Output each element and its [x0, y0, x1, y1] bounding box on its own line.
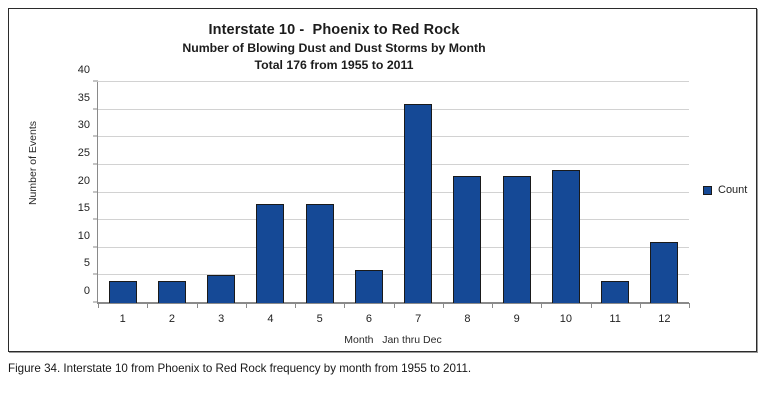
x-tick-mark: [246, 303, 247, 308]
plot-area: 0510152025303540 123456789101112: [97, 82, 689, 304]
x-tick-label-3: 3: [218, 313, 224, 325]
x-tick-mark: [197, 303, 198, 308]
chart-legend: Count: [703, 184, 747, 196]
bar-month-11: [601, 281, 629, 303]
x-tick-mark: [344, 303, 345, 308]
legend-swatch-count-icon: [703, 186, 712, 195]
bar-slot: [492, 82, 541, 303]
x-tick-mark: [295, 303, 296, 308]
y-tick-label: 10: [78, 230, 90, 242]
bar-month-12: [650, 242, 678, 303]
bar-month-5: [306, 204, 334, 303]
x-tick-label-2: 2: [169, 313, 175, 325]
chart-frame: Interstate 10 - Phoenix to Red Rock Numb…: [8, 8, 757, 352]
x-tick-label-7: 7: [415, 313, 421, 325]
bar-month-10: [552, 170, 580, 303]
figure-page: Interstate 10 - Phoenix to Red Rock Numb…: [0, 0, 770, 400]
bar-month-2: [158, 281, 186, 303]
x-axis-title: Month Jan thru Dec: [97, 334, 689, 346]
y-tick-label: 5: [84, 257, 90, 269]
x-tick-mark: [591, 303, 592, 308]
x-tick-mark: [443, 303, 444, 308]
x-tick-mark: [98, 303, 99, 308]
x-tick-label-1: 1: [120, 313, 126, 325]
bar-slot: [147, 82, 196, 303]
bar-slot: [197, 82, 246, 303]
x-tick-mark: [541, 303, 542, 308]
x-tick-label-12: 12: [658, 313, 670, 325]
bar-month-1: [109, 281, 137, 303]
legend-label-count: Count: [718, 184, 747, 196]
x-tick-label-11: 11: [609, 313, 620, 325]
bar-slot: [295, 82, 344, 303]
bar-slot: [640, 82, 689, 303]
x-tick-mark: [689, 303, 690, 308]
y-tick-label: 25: [78, 147, 90, 159]
x-tick-label-9: 9: [514, 313, 520, 325]
bar-month-9: [503, 176, 531, 303]
bar-month-3: [207, 275, 235, 303]
x-tick-mark: [492, 303, 493, 308]
x-tick-mark: [640, 303, 641, 308]
x-tick-mark: [147, 303, 148, 308]
y-tick-label: 35: [78, 92, 90, 104]
bar-slot: [591, 82, 640, 303]
figure-caption: Figure 34. Interstate 10 from Phoenix to…: [8, 362, 471, 375]
x-tick-label-6: 6: [366, 313, 372, 325]
bar-slot: [541, 82, 590, 303]
x-tick-label-10: 10: [560, 313, 572, 325]
y-tick-label: 0: [84, 285, 90, 297]
x-tick-mark: [394, 303, 395, 308]
x-tick-label-4: 4: [267, 313, 273, 325]
bar-month-7: [404, 104, 432, 303]
y-tick-label: 40: [78, 64, 90, 76]
bar-slot: [246, 82, 295, 303]
y-axis-title: Number of Events: [27, 103, 39, 223]
y-tick-label: 20: [78, 175, 90, 187]
bar-month-8: [453, 176, 481, 303]
bar-month-4: [256, 204, 284, 303]
bar-slot: [443, 82, 492, 303]
x-tick-label-8: 8: [464, 313, 470, 325]
bar-slot: [98, 82, 147, 303]
x-tick-label-5: 5: [317, 313, 323, 325]
y-tick-label: 30: [78, 119, 90, 131]
bar-slot: [394, 82, 443, 303]
plot-wrapper: Number of Events 0510152025303540 123456…: [9, 9, 758, 353]
y-tick-label: 15: [78, 202, 90, 214]
bar-series: [98, 82, 689, 303]
bar-slot: [344, 82, 393, 303]
bar-month-6: [355, 270, 383, 303]
